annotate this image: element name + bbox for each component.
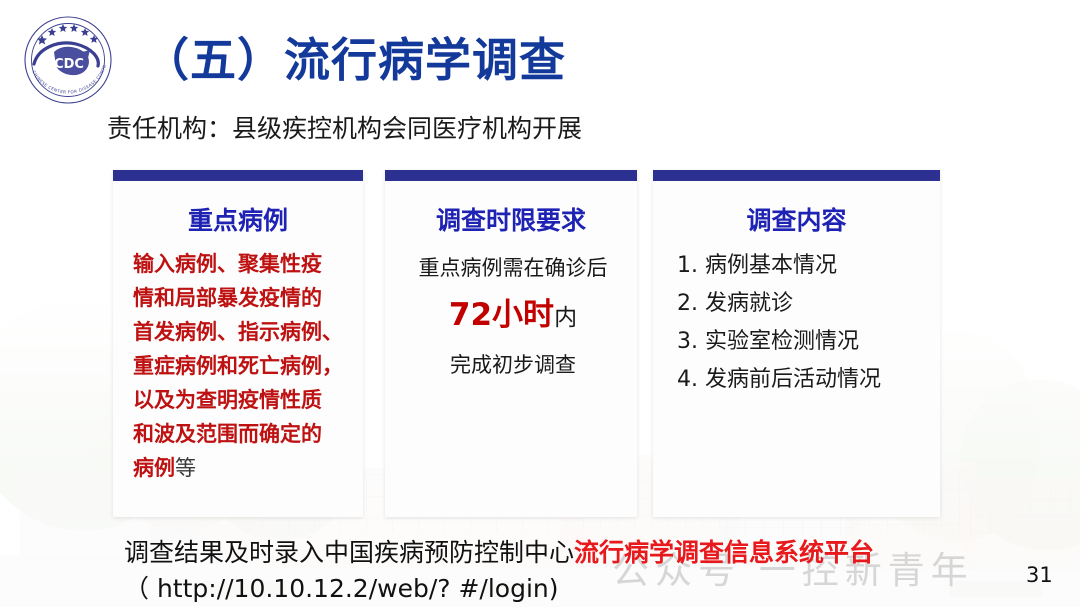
card-title: 调查内容 [653,201,940,237]
card-text-line: 病例等 [133,451,347,485]
responsible-agency-line: 责任机构：县级疾控机构会同医疗机构开展 [107,109,582,145]
line-text: 病例 [133,456,175,480]
card-text-line: 输入病例、聚集性疫 [133,247,347,281]
list-item: 1. 病例基本情况 [673,247,924,285]
card-top-bar [653,170,940,181]
card-top-bar [385,170,637,181]
line-text: 首发病例、指示病例、 [133,320,343,344]
list-item: 3. 实验室检测情况 [673,323,924,361]
card-body: 重点病例需在确诊后 72小时内 完成初步调查 [385,237,637,386]
card-time-limit: 调查时限要求 重点病例需在确诊后 72小时内 完成初步调查 [385,170,637,517]
line-text: 重症病例和死亡病例， [133,354,343,378]
line-tail: 等 [175,456,196,480]
slide-header: CDC CHINESE CENTER FOR DISEASE CONTROL A… [0,0,1080,100]
time-limit-line-1: 重点病例需在确诊后 [405,247,621,289]
line-text: 和波及范围而确定的 [133,422,322,446]
footer-primary-line: 调查结果及时录入中国疾病预防控制中心流行病学调查信息系统平台 [124,533,874,569]
card-key-cases: 重点病例 输入病例、聚集性疫 情和局部暴发疫情的 首发病例、指示病例、 重症病例… [113,170,363,517]
card-text-line: 首发病例、指示病例、 [133,315,347,349]
card-text-line: 重症病例和死亡病例， [133,349,347,383]
card-survey-content: 调查内容 1. 病例基本情况 2. 发病就诊 3. 实验室检测情况 4. 发病前… [653,170,940,517]
card-text-line: 情和局部暴发疫情的 [133,281,347,315]
card-body: 输入病例、聚集性疫 情和局部暴发疫情的 首发病例、指示病例、 重症病例和死亡病例… [113,237,363,485]
footer-prefix: 调查结果及时录入中国疾病预防控制中心 [124,538,574,567]
list-item: 4. 发病前后活动情况 [673,361,924,399]
line-text: 情和局部暴发疫情的 [133,286,322,310]
line-text: 输入病例、聚集性疫 [133,252,322,276]
page-number: 31 [1026,563,1053,587]
card-title: 重点病例 [113,201,363,237]
time-limit-line-3: 完成初步调查 [405,344,621,386]
time-limit-highlight: 72小时内 [405,289,621,344]
card-body: 1. 病例基本情况 2. 发病就诊 3. 实验室检测情况 4. 发病前后活动情况 [653,237,940,399]
china-cdc-logo: CDC CHINESE CENTER FOR DISEASE CONTROL A… [14,8,122,108]
highlight-number: 72小时 [449,297,554,333]
line-text: 以及为查明疫情性质 [133,388,322,412]
svg-text:CDC: CDC [54,57,84,72]
card-title: 调查时限要求 [385,201,637,237]
page-title: （五）流行病学调查 [143,24,566,90]
card-text-line: 和波及范围而确定的 [133,417,347,451]
highlight-suffix: 内 [554,305,577,331]
footer-platform-name: 流行病学调查信息系统平台 [574,538,874,567]
card-top-bar [113,170,363,181]
slide-canvas: 公众号 一控新青年 [0,0,1080,607]
list-item: 2. 发病就诊 [673,285,924,323]
footer-url: （ http://10.10.12.2/web/? #/login) [124,569,559,605]
card-text-line: 以及为查明疫情性质 [133,383,347,417]
